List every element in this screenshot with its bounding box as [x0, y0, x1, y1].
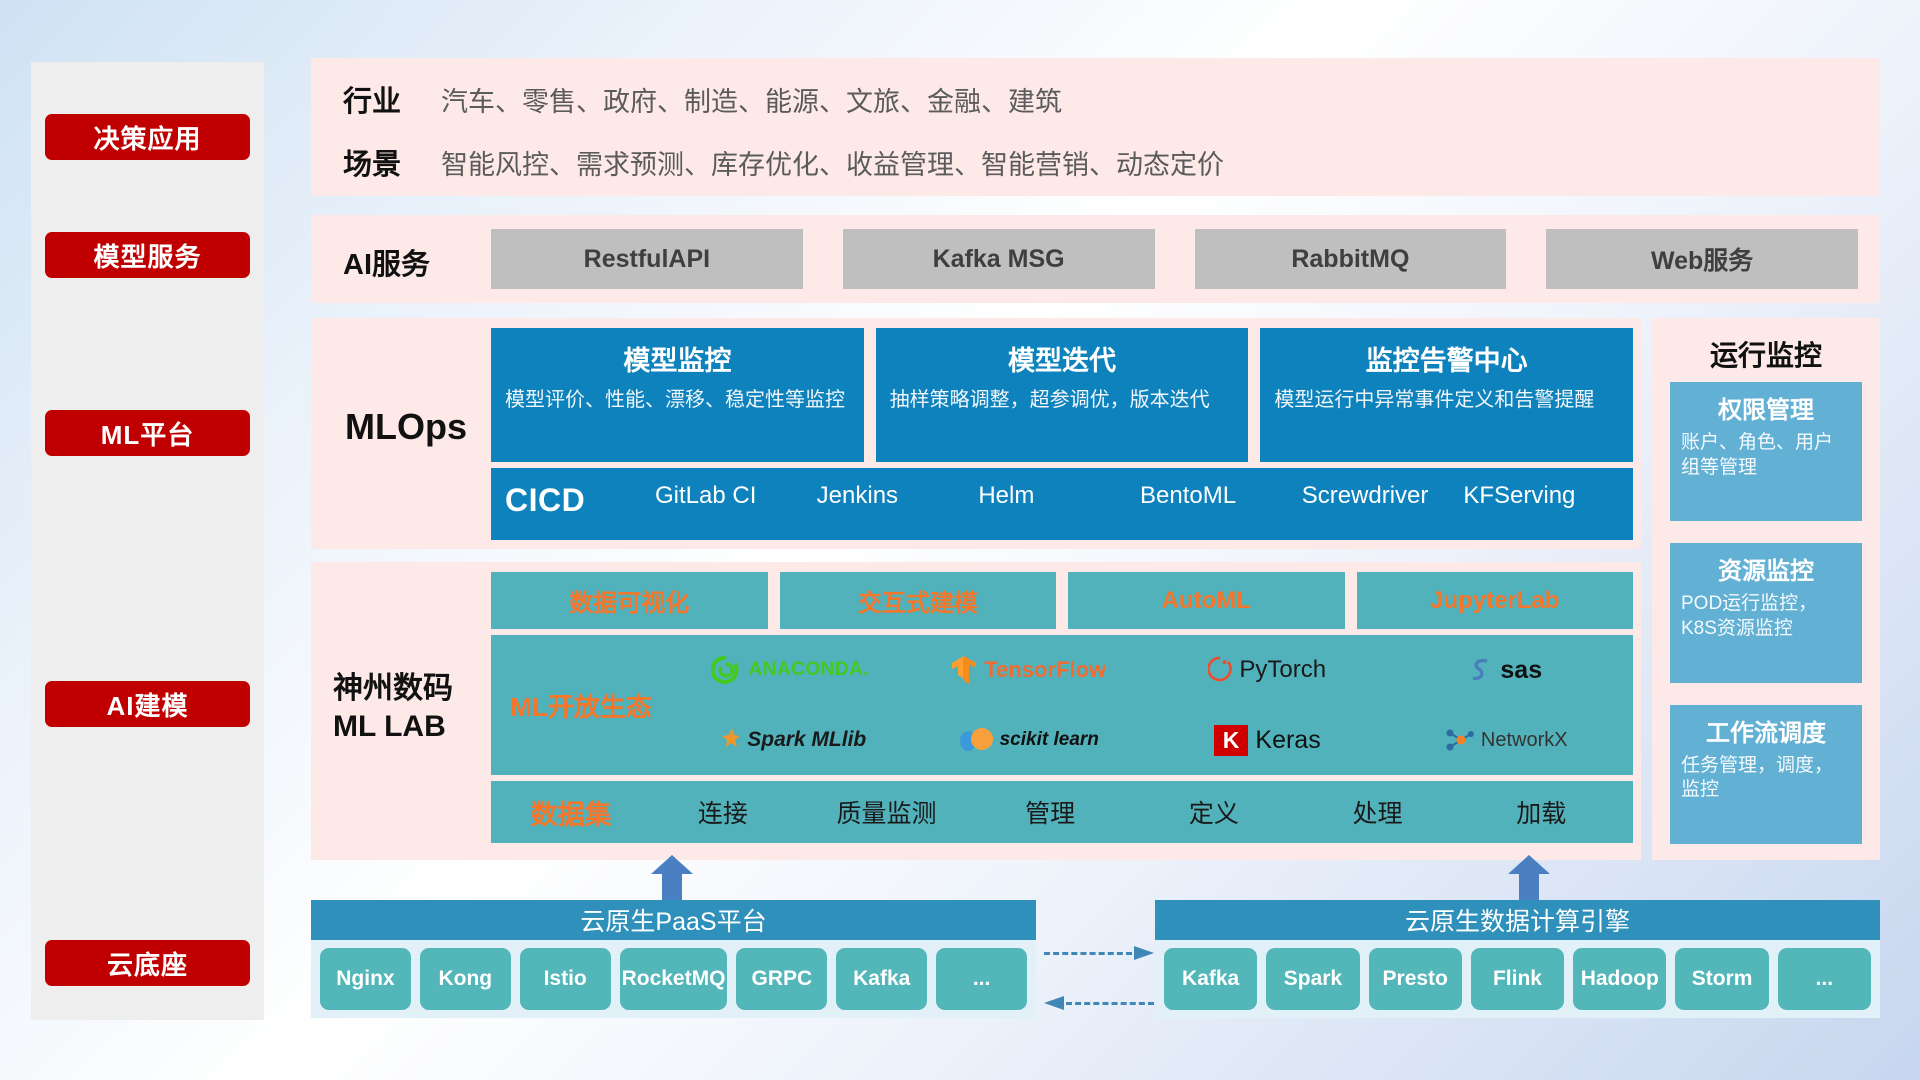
card-title: 工作流调度	[1681, 713, 1851, 748]
dataset-item-manage[interactable]: 管理	[968, 794, 1132, 830]
mlops-card-model-monitoring[interactable]: 模型监控 模型评价、性能、漂移、稳定性等监控	[491, 328, 864, 462]
card-desc: 模型评价、性能、漂移、稳定性等监控	[505, 387, 850, 413]
dataset-title: 数据集	[501, 793, 641, 832]
ops-card-workflow-scheduling[interactable]: 工作流调度 任务管理，调度，监控	[1670, 705, 1862, 844]
spark-mllib-logo: Spark MLlib	[671, 727, 910, 753]
cloud-data-engine-chip-list: Kafka Spark Presto Flink Hadoop Storm ..…	[1155, 940, 1880, 1018]
scikit-learn-logo-text: scikit learn	[1000, 729, 1099, 751]
rail-item-ai-modeling[interactable]: AI建模	[45, 681, 250, 727]
ml-ecosystem-logo-grid: ANACONDA. TensorFlow PyTorch	[671, 635, 1633, 775]
cicd-item-bentoml[interactable]: BentoML	[1140, 482, 1302, 510]
sas-logo-text: sas	[1500, 656, 1542, 685]
left-rail: 决策应用 模型服务 ML平台 AI建模 云底座	[31, 62, 264, 1020]
ml-lab-band: 神州数码ML LAB 数据可视化 交互式建模 AutoML JupyterLab…	[311, 562, 1641, 860]
keras-logo: K Keras	[1148, 725, 1387, 756]
dataset-item-list: 连接 质量监测 管理 定义 处理 加载	[641, 794, 1623, 830]
dataset-item-connect[interactable]: 连接	[641, 794, 805, 830]
cloud-chip-kong[interactable]: Kong	[420, 948, 511, 1010]
cloud-chip-storm[interactable]: Storm	[1675, 948, 1768, 1010]
cloud-chip-grpc[interactable]: GRPC	[736, 948, 827, 1010]
industry-line: 行业 汽车、零售、政府、制造、能源、文旅、金融、建筑	[321, 78, 1062, 120]
scenario-line: 场景 智能风控、需求预测、库存优化、收益管理、智能营销、动态定价	[321, 141, 1224, 183]
cloud-chip-hadoop[interactable]: Hadoop	[1573, 948, 1666, 1010]
ml-lab-tab-interactive-modeling[interactable]: 交互式建模	[780, 572, 1057, 629]
cicd-item-helm[interactable]: Helm	[978, 482, 1140, 510]
cloud-chip-nginx[interactable]: Nginx	[320, 948, 411, 1010]
anaconda-logo: ANACONDA.	[671, 655, 910, 685]
cloud-chip-more[interactable]: ...	[936, 948, 1027, 1010]
pytorch-logo-text: PyTorch	[1239, 656, 1326, 684]
card-desc: POD运行监控，K8S资源监控	[1681, 592, 1851, 641]
cloud-chip-more[interactable]: ...	[1778, 948, 1871, 1010]
keras-logo-mark: K	[1214, 725, 1249, 756]
cicd-item-gitlab-ci[interactable]: GitLab CI	[655, 482, 817, 510]
networkx-logo: NetworkX	[1387, 726, 1626, 754]
cicd-item-kfserving[interactable]: KFServing	[1463, 482, 1625, 510]
card-title: 资源监控	[1681, 551, 1851, 586]
cicd-item-screwdriver[interactable]: Screwdriver	[1302, 482, 1464, 510]
ops-card-permission-management[interactable]: 权限管理 账户、角色、用户组等管理	[1670, 382, 1862, 521]
tensorflow-logo-text: TensorFlow	[984, 657, 1106, 683]
ai-service-chip-list: RestfulAPI Kafka MSG RabbitMQ Web服务	[491, 229, 1858, 289]
industry-value: 汽车、零售、政府、制造、能源、文旅、金融、建筑	[441, 80, 1062, 119]
dataset-item-quality-monitoring[interactable]: 质量监测	[805, 794, 969, 830]
cicd-title: CICD	[505, 482, 655, 519]
mlops-card-model-iteration[interactable]: 模型迭代 抽样策略调整，超参调优，版本迭代	[876, 328, 1249, 462]
ml-lab-tab-automl[interactable]: AutoML	[1068, 572, 1345, 629]
cloud-chip-flink[interactable]: Flink	[1471, 948, 1564, 1010]
dataset-item-define[interactable]: 定义	[1132, 794, 1296, 830]
ai-service-band: AI服务 RestfulAPI Kafka MSG RabbitMQ Web服务	[311, 215, 1880, 303]
ai-service-chip-restfulapi[interactable]: RestfulAPI	[491, 229, 803, 289]
rail-item-cloud-base[interactable]: 云底座	[45, 940, 250, 986]
cicd-item-jenkins[interactable]: Jenkins	[817, 482, 979, 510]
industry-key: 行业	[321, 78, 441, 120]
tensorflow-logo: TensorFlow	[910, 655, 1149, 685]
scenario-value: 智能风控、需求预测、库存优化、收益管理、智能营销、动态定价	[441, 143, 1224, 182]
industry-scenario-band: 行业 汽车、零售、政府、制造、能源、文旅、金融、建筑 场景 智能风控、需求预测、…	[311, 58, 1880, 196]
up-arrow-icon-paas	[651, 855, 693, 901]
cloud-data-engine-panel: 云原生数据计算引擎 Kafka Spark Presto Flink Hadoo…	[1155, 900, 1880, 1018]
rail-item-ml-platform[interactable]: ML平台	[45, 410, 250, 456]
ml-ecosystem-label: ML开放生态	[491, 687, 671, 724]
ai-service-chip-rabbitmq[interactable]: RabbitMQ	[1195, 229, 1507, 289]
ai-service-label: AI服务	[343, 241, 430, 283]
mlops-card-list: 模型监控 模型评价、性能、漂移、稳定性等监控 模型迭代 抽样策略调整，超参调优，…	[491, 328, 1633, 462]
arrow-right-icon-connector	[1044, 946, 1154, 960]
cloud-chip-spark[interactable]: Spark	[1266, 948, 1359, 1010]
cloud-chip-kafka[interactable]: Kafka	[836, 948, 927, 1010]
cloud-chip-istio[interactable]: Istio	[520, 948, 611, 1010]
cloud-paas-header: 云原生PaaS平台	[311, 900, 1036, 940]
ml-lab-tab-data-visualization[interactable]: 数据可视化	[491, 572, 768, 629]
cloud-chip-rocketmq[interactable]: RocketMQ	[620, 948, 728, 1010]
ai-service-chip-kafka-msg[interactable]: Kafka MSG	[843, 229, 1155, 289]
ops-monitoring-panel: 运行监控 权限管理 账户、角色、用户组等管理 资源监控 POD运行监控，K8S资…	[1652, 318, 1880, 860]
anaconda-logo-text: ANACONDA.	[748, 659, 869, 681]
spark-mllib-logo-text: Spark MLlib	[747, 728, 866, 752]
card-desc: 任务管理，调度，监控	[1681, 754, 1851, 803]
ml-ecosystem-box: ML开放生态 ANACONDA. TensorFlow	[491, 635, 1633, 775]
mlops-label: MLOps	[345, 406, 467, 448]
ml-lab-tab-list: 数据可视化 交互式建模 AutoML JupyterLab	[491, 572, 1633, 629]
networkx-logo-text: NetworkX	[1481, 729, 1568, 752]
cloud-data-engine-header: 云原生数据计算引擎	[1155, 900, 1880, 940]
cloud-paas-panel: 云原生PaaS平台 Nginx Kong Istio RocketMQ GRPC…	[311, 900, 1036, 1018]
ops-card-resource-monitoring[interactable]: 资源监控 POD运行监控，K8S资源监控	[1670, 543, 1862, 682]
pytorch-logo: PyTorch	[1148, 656, 1387, 684]
arrow-left-icon-connector	[1044, 996, 1154, 1010]
ml-lab-label: 神州数码ML LAB	[333, 670, 483, 745]
card-desc: 账户、角色、用户组等管理	[1681, 431, 1851, 480]
cicd-item-list: GitLab CI Jenkins Helm BentoML Screwdriv…	[655, 482, 1625, 510]
sas-logo: sas	[1387, 656, 1626, 685]
cloud-paas-chip-list: Nginx Kong Istio RocketMQ GRPC Kafka ...	[311, 940, 1036, 1018]
rail-item-decision-app[interactable]: 决策应用	[45, 114, 250, 160]
ops-panel-title: 运行监控	[1652, 334, 1880, 374]
ai-service-chip-web-service[interactable]: Web服务	[1546, 229, 1858, 289]
card-title: 模型迭代	[890, 339, 1235, 378]
mlops-band: MLOps 模型监控 模型评价、性能、漂移、稳定性等监控 模型迭代 抽样策略调整…	[311, 318, 1641, 549]
keras-logo-text: Keras	[1255, 726, 1320, 755]
dataset-item-load[interactable]: 加载	[1459, 794, 1623, 830]
scenario-key: 场景	[321, 141, 441, 183]
up-arrow-icon-data-engine	[1508, 855, 1550, 901]
cicd-bar: CICD GitLab CI Jenkins Helm BentoML Scre…	[491, 468, 1633, 540]
dataset-bar: 数据集 连接 质量监测 管理 定义 处理 加载	[491, 781, 1633, 843]
rail-item-model-service[interactable]: 模型服务	[45, 232, 250, 278]
ml-lab-tab-jupyterlab[interactable]: JupyterLab	[1357, 572, 1634, 629]
cloud-chip-presto[interactable]: Presto	[1369, 948, 1462, 1010]
card-title: 模型监控	[505, 339, 850, 378]
card-title: 权限管理	[1681, 390, 1851, 425]
card-desc: 模型运行中异常事件定义和告警提醒	[1274, 387, 1619, 413]
cloud-chip-kafka[interactable]: Kafka	[1164, 948, 1257, 1010]
ops-card-list: 权限管理 账户、角色、用户组等管理 资源监控 POD运行监控，K8S资源监控 工…	[1670, 382, 1862, 844]
card-title: 监控告警中心	[1274, 339, 1619, 378]
card-desc: 抽样策略调整，超参调优，版本迭代	[890, 387, 1235, 413]
mlops-card-alert-center[interactable]: 监控告警中心 模型运行中异常事件定义和告警提醒	[1260, 328, 1633, 462]
dataset-item-process[interactable]: 处理	[1296, 794, 1460, 830]
scikit-learn-logo: scikit learn	[910, 726, 1149, 754]
